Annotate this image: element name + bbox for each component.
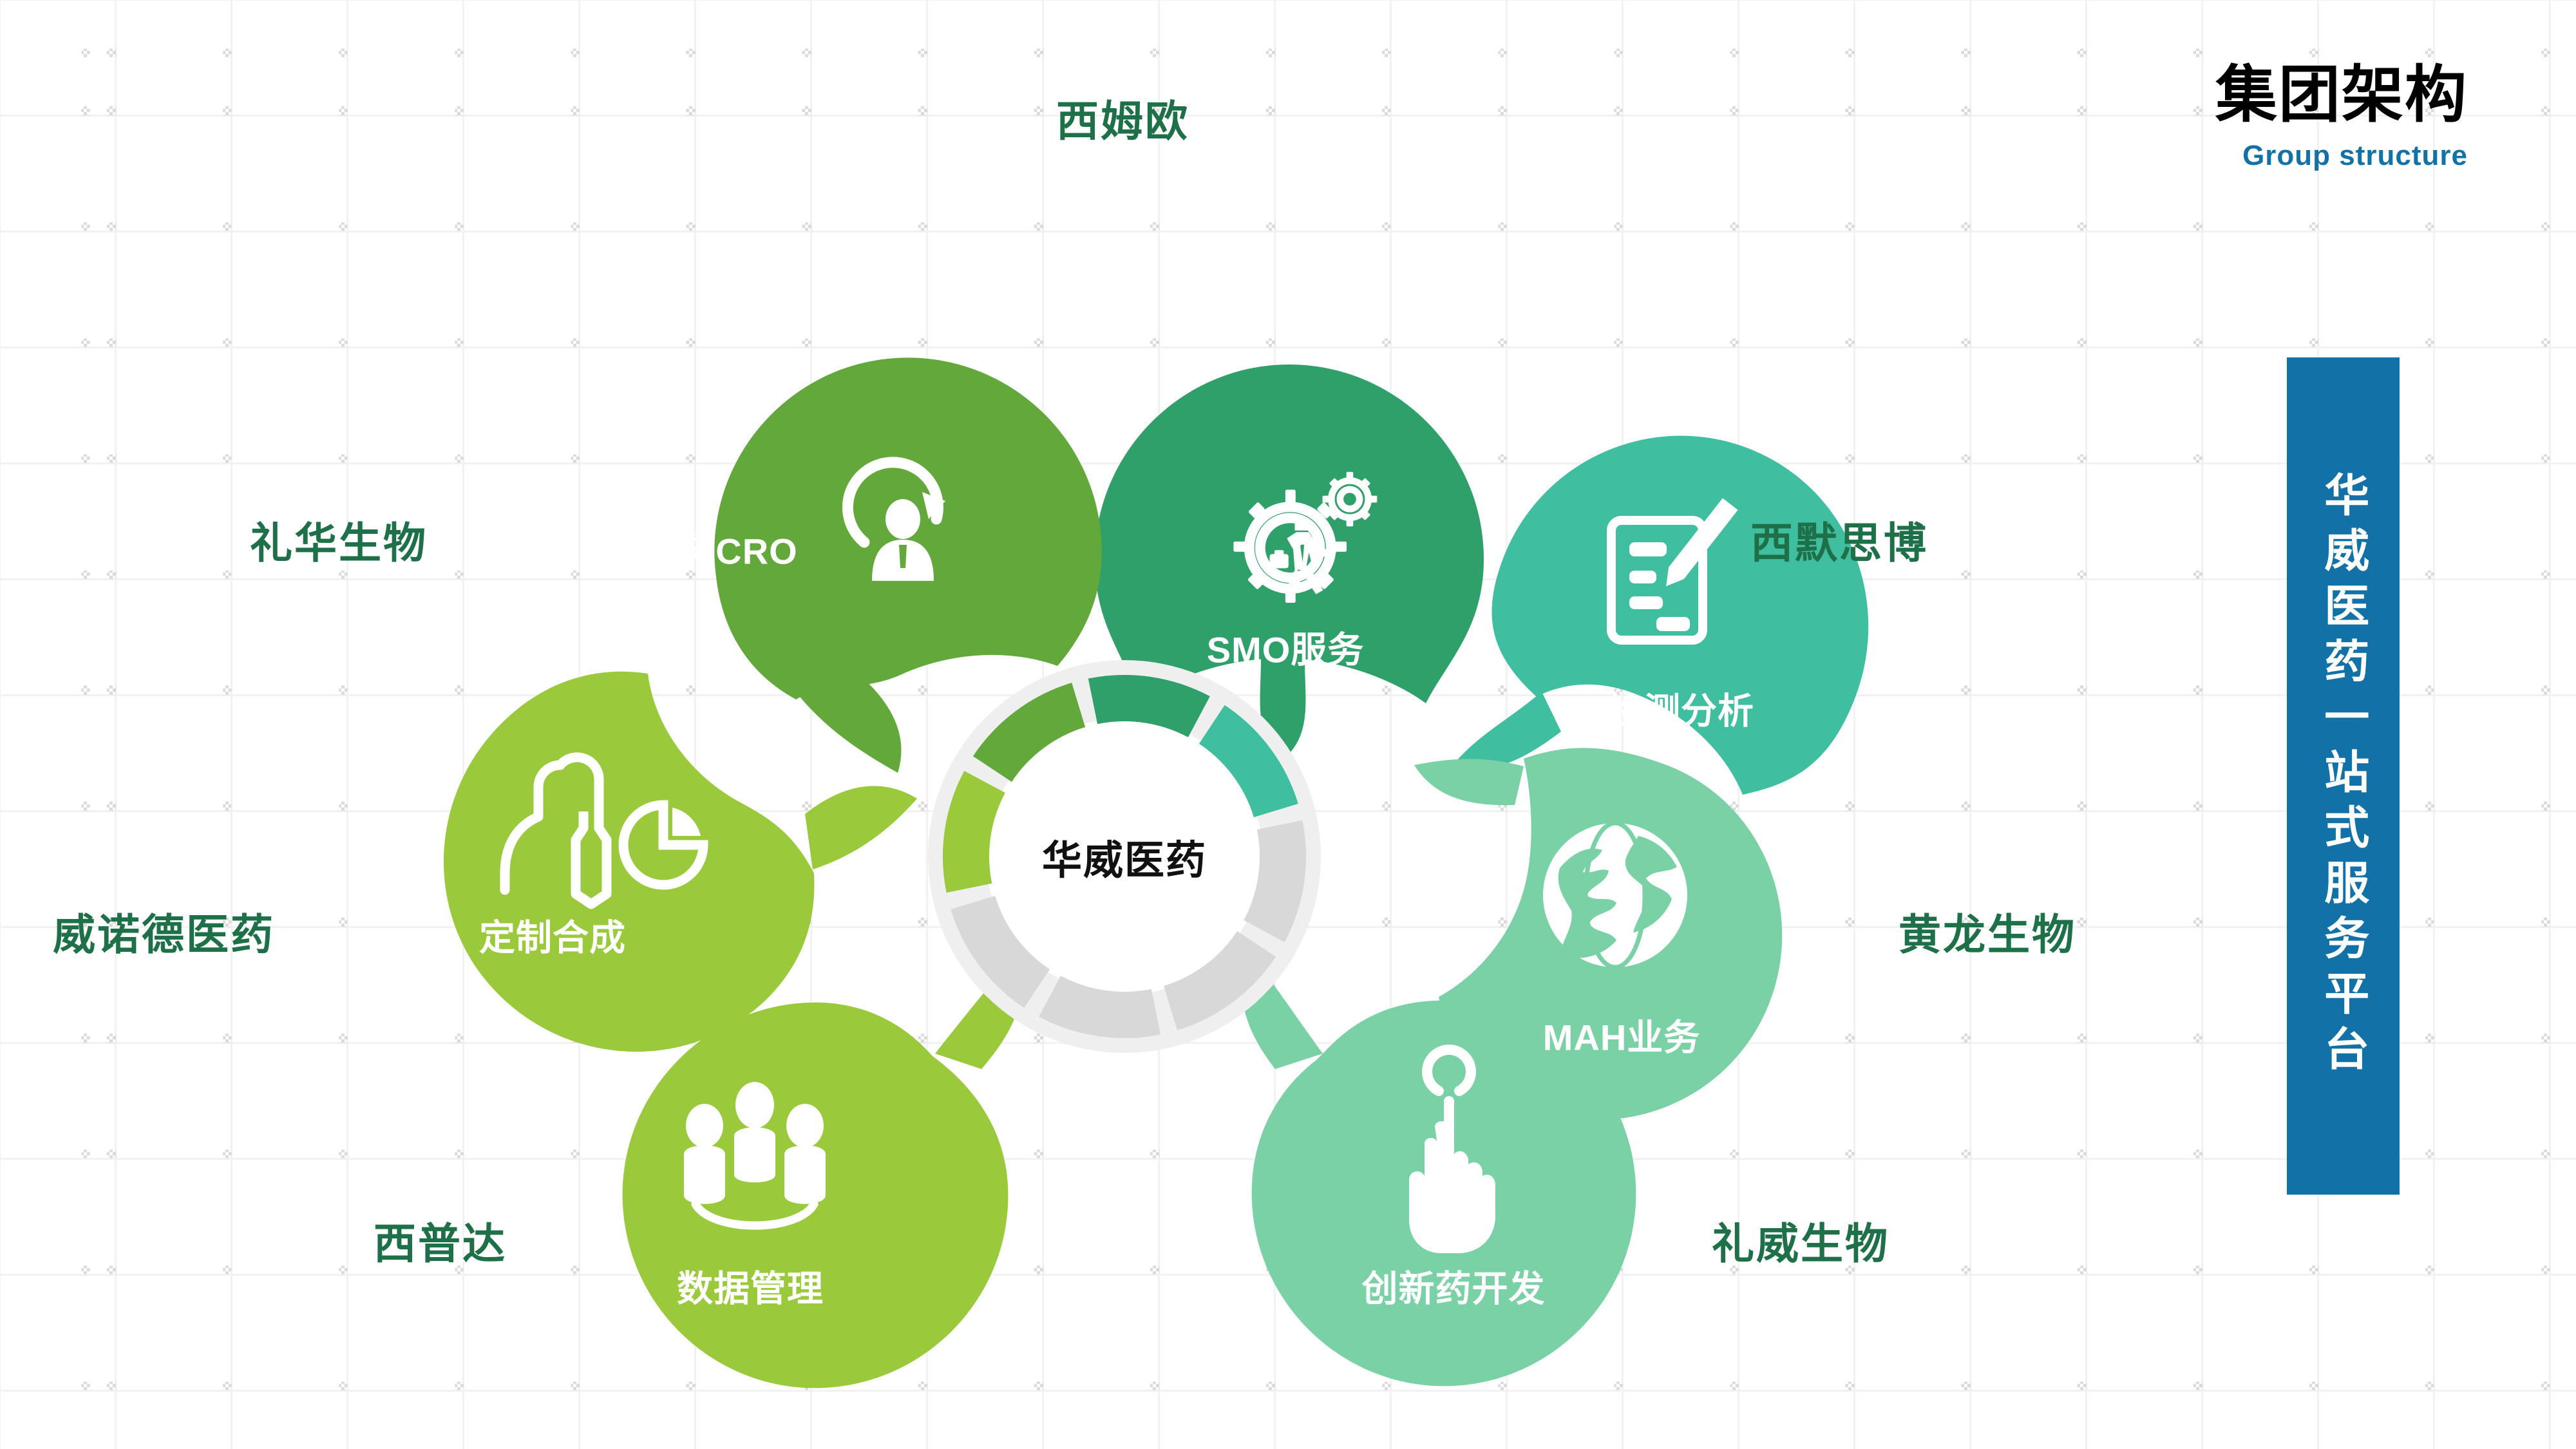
petal-label-cro: 临床CRO <box>642 523 797 575</box>
vertical-banner: 华威医药一站式服务平台 <box>2287 357 2400 1195</box>
group-structure-diagram: 集团架构 Group structure 华威医药一站式服务平台 华威医药 SM… <box>0 0 2576 1449</box>
page-title: 集团架构 <box>2215 63 2468 128</box>
globe-icon <box>1543 823 1687 967</box>
petal-label-innovation: 创新药开发 <box>1362 1260 1546 1312</box>
company-label-ximosibo: 西默思博 <box>1750 509 1928 571</box>
company-label-huanglong: 黄龙生物 <box>1899 900 2076 962</box>
vertical-banner-text: 华威医药一站式服务平台 <box>2318 471 2368 1081</box>
petal-label-mah: MAH业务 <box>1543 1009 1701 1061</box>
page-subtitle: Group structure <box>2215 140 2468 172</box>
petal-label-data: 数据管理 <box>677 1260 824 1312</box>
company-label-ximuou: 西姆欧 <box>1056 87 1189 149</box>
company-label-liwei: 礼威生物 <box>1712 1209 1889 1271</box>
company-label-lihua: 礼华生物 <box>250 509 428 571</box>
hub-label: 华威医药 <box>1042 828 1207 885</box>
petal-label-testing: 检测分析 <box>1607 683 1754 735</box>
page-header: 集团架构 Group structure <box>2215 63 2468 172</box>
company-label-weinuode: 威诺德医药 <box>53 900 275 962</box>
petal-label-smo: SMO服务 <box>1207 621 1365 674</box>
petal-testing[interactable] <box>1453 436 1868 795</box>
petal-label-synthesis: 定制合成 <box>479 909 626 961</box>
company-label-xipuda: 西普达 <box>374 1209 507 1271</box>
